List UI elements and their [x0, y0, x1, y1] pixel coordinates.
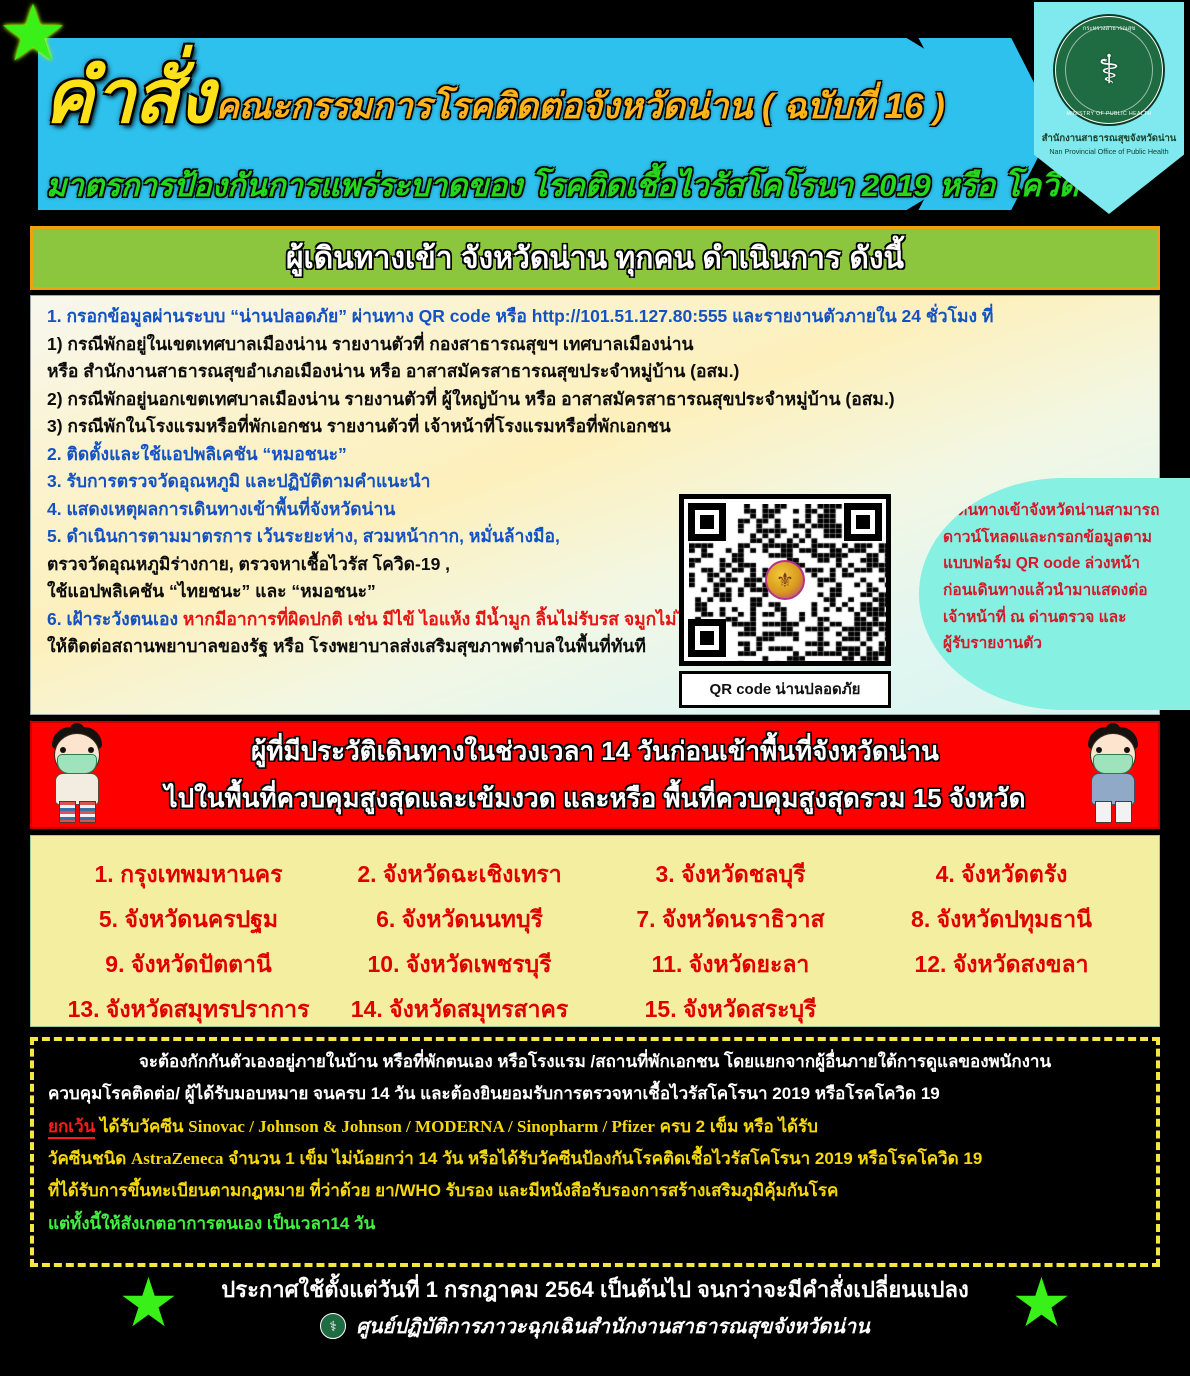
- province-item: 11. จังหวัดยะลา: [595, 947, 866, 983]
- mascot-left-icon: [40, 723, 114, 823]
- page-header: ★ คำสั่ง คณะกรรมการโรคติดต่อจังหวัดน่าน …: [0, 0, 1190, 222]
- instruction-line: 2. ติดตั้งและใช้แอปพลิเคชัน “หมอชนะ”: [47, 446, 1143, 464]
- travel-history-line1: ผู้ที่มีประวัติเดินทางในช่วงเวลา 14 วันก…: [251, 731, 939, 772]
- astrazeneca-suffix: จำนวน 1 เข็ม ไม่น้อยกว่า 14 วัน หรือได้ร…: [224, 1149, 983, 1168]
- star-decoration-footer-left: ★: [118, 1269, 179, 1337]
- province-item: 14. จังหวัดสมุทรสาคร: [324, 992, 595, 1028]
- qr-code-caption: QR code น่านปลอดภัย: [679, 671, 891, 708]
- quarantine-line-2: ควบคุมโรคติดต่อ/ ผู้ได้รับมอบหมาย จนครบ …: [48, 1085, 1142, 1103]
- province-item: 8. จังหวัดปทุมธานี: [866, 902, 1137, 938]
- instruction-line: 3. รับการตรวจวัดอุณหภูมิ และปฏิบัติตามคำ…: [47, 473, 1143, 491]
- quarantine-line-1: จะต้องกักกันตัวเองอยู่ภายในบ้าน หรือที่พ…: [48, 1053, 1142, 1071]
- note-line: ผู้เดินทางเข้าจังหวัดน่านสามารถ: [943, 498, 1190, 525]
- province-row: 9. จังหวัดปัตตานี 10. จังหวัดเพชรบุรี 11…: [53, 942, 1137, 987]
- vaccine-astrazeneca-line: วัคซีนชนิด AstraZeneca จำนวน 1 เข็ม ไม่น…: [48, 1150, 1142, 1168]
- province-row: 5. จังหวัดนครปฐม 6. จังหวัดนนทบุรี 7. จั…: [53, 897, 1137, 942]
- note-line: ผู้รับรายงานตัว: [943, 631, 1190, 658]
- issuing-office-row: ⚕ ศูนย์ปฏิบัติการภาวะฉุกเฉินสำนักงานสาธา…: [320, 1310, 870, 1342]
- province-list: 1. กรุงเทพมหานคร 2. จังหวัดฉะเชิงเทรา 3.…: [30, 835, 1160, 1027]
- province-item: 13. จังหวัดสมุทรปราการ: [53, 992, 324, 1028]
- seal-ring-thai-text: กระทรวงสาธารณสุข: [1055, 23, 1163, 33]
- note-line: แบบฟอร์ม QR oode ล่วงหน้า: [943, 551, 1190, 578]
- qr-instruction-note: ผู้เดินทางเข้าจังหวัดน่านสามารถ ดาวน์โหล…: [919, 478, 1190, 710]
- mascot-eye-right: [1124, 747, 1130, 753]
- qr-code-image[interactable]: ⚜: [679, 494, 891, 666]
- instruction-line: 1) กรณีพักอยู่ในเขตเทศบาลเมืองน่าน รายงา…: [47, 336, 1143, 354]
- exemption-text-b: ครบ 2 เข็ม หรือ ได้รับ: [655, 1117, 818, 1136]
- section-title-text: ผู้เดินทางเข้า จังหวัดน่าน ทุกคน ดำเนินก…: [286, 235, 904, 282]
- qr-finder-bottom-left: [688, 619, 726, 657]
- mascot-leg: [1095, 801, 1112, 823]
- travel-history-banner: ผู้ที่มีประวัติเดินทางในช่วงเวลา 14 วันก…: [30, 721, 1160, 829]
- note-line: ดาวน์โหลดและกรอกข้อมูลตาม: [943, 525, 1190, 552]
- province-row: 13. จังหวัดสมุทรปราการ 14. จังหวัดสมุทรส…: [53, 987, 1137, 1032]
- effective-date-notice: ประกาศใช้ตั้งแต่วันที่ 1 กรกฎาคม 2564 เป…: [221, 1272, 968, 1307]
- travel-history-line2: ไปในพื้นที่ควบคุมสูงสุดและเข้มงวด และหรื…: [165, 778, 1026, 819]
- province-item: 4. จังหวัดตรัง: [866, 857, 1137, 893]
- issuing-office-name: ศูนย์ปฏิบัติการภาวะฉุกเฉินสำนักงานสาธารณ…: [356, 1310, 870, 1342]
- province-item: 2. จังหวัดฉะเชิงเทรา: [324, 857, 595, 893]
- quarantine-requirements-box: จะต้องกักกันตัวเองอยู่ภายในบ้าน หรือที่พ…: [30, 1037, 1160, 1267]
- instruction-line: หรือ สำนักงานสาธารณสุขอำเภอเมืองน่าน หรื…: [47, 363, 1143, 381]
- mascot-legs: [1091, 801, 1135, 823]
- section-title-bar: ผู้เดินทางเข้า จังหวัดน่าน ทุกคน ดำเนินก…: [30, 226, 1160, 290]
- star-decoration-footer-right: ★: [1011, 1269, 1072, 1337]
- province-item: 15. จังหวัดสระบุรี: [595, 992, 866, 1028]
- qr-finder-top-left: [688, 503, 726, 541]
- mascot-eye-left: [60, 747, 66, 753]
- province-item: 7. จังหวัดนราธิวาส: [595, 902, 866, 938]
- mascot-leg: [79, 801, 96, 823]
- mascot-right-icon: [1076, 723, 1150, 823]
- vaccine-brand-list: Sinovac / Johnson & Johnson / MODERNA / …: [188, 1117, 655, 1136]
- mascot-leg: [1115, 801, 1132, 823]
- instruction-line: 2) กรณีพักอยู่นอกเขตเทศบาลเมืองน่าน รายง…: [47, 391, 1143, 409]
- mascot-legs: [55, 801, 99, 823]
- province-item: 6. จังหวัดนนทบุรี: [324, 902, 595, 938]
- qr-center-emblem-icon: ⚜: [765, 560, 805, 600]
- province-item: 5. จังหวัดนครปฐม: [53, 902, 324, 938]
- quarantine-line-5: ที่ได้รับการขึ้นทะเบียนตามกฎหมาย ที่ว่าด…: [48, 1182, 1142, 1200]
- instruction-line: 3) กรณีพักในโรงแรมหรือที่พักเอกชน รายงาน…: [47, 418, 1143, 436]
- mascot-eye-left: [1096, 747, 1102, 753]
- province-item: 3. จังหวัดชลบุรี: [595, 857, 866, 893]
- vaccine-exemption-line: ยกเว้น ได้รับวัคซีน Sinovac / Johnson & …: [48, 1118, 1142, 1136]
- province-item: 1. กรุงเทพมหานคร: [53, 857, 324, 893]
- mascot-leg: [59, 801, 76, 823]
- note-line: เจ้าหน้าที่ ณ ด่านตรวจ และ: [943, 605, 1190, 632]
- province-item: 9. จังหวัดปัตตานี: [53, 947, 324, 983]
- page-footer: ★ ประกาศใช้ตั้งแต่วันที่ 1 กรกฎาคม 2564 …: [0, 1267, 1190, 1347]
- exemption-text-a: ได้รับวัคซีน: [95, 1117, 188, 1136]
- instruction-item6-prefix: 6. เฝ้าระวังตนเอง: [47, 609, 183, 629]
- astrazeneca-prefix: วัคซีนชนิด: [48, 1149, 131, 1168]
- astrazeneca-brand: AstraZeneca: [131, 1149, 224, 1168]
- province-item: 12. จังหวัดสงขลา: [866, 947, 1137, 983]
- ministry-seal-icon: กระทรวงสาธารณสุข ⚕ MINISTRY OF PUBLIC HE…: [1053, 14, 1165, 126]
- seal-ring-english-text: MINISTRY OF PUBLIC HEALTH: [1055, 111, 1163, 117]
- quarantine-line-6: แต่ทั้งนี้ให้สังเกตอาการตนเอง เป็นเวลา14…: [48, 1215, 1142, 1233]
- instruction-line: 1. กรอกข้อมูลผ่านระบบ “น่านปลอดภัย” ผ่าน…: [47, 308, 1143, 326]
- face-mask-icon: [57, 754, 97, 774]
- footer-ministry-icon: ⚕: [320, 1313, 346, 1339]
- page-title: คำสั่ง: [44, 62, 213, 132]
- qr-code-block[interactable]: ⚜ QR code น่านปลอดภัย: [679, 494, 891, 708]
- instructions-panel: 1. กรอกข้อมูลผ่านระบบ “น่านปลอดภัย” ผ่าน…: [30, 295, 1160, 715]
- qr-finder-top-right: [844, 503, 882, 541]
- header-committee-title: คณะกรรมการโรคติดต่อจังหวัดน่าน ( ฉบับที่…: [215, 88, 944, 133]
- header-subtitle: มาตรการป้องกันการแพร่ระบาดของ โรคติดเชื้…: [46, 160, 1123, 210]
- mascot-eye-right: [88, 747, 94, 753]
- province-row: 1. กรุงเทพมหานคร 2. จังหวัดฉะเชิงเทรา 3.…: [53, 852, 1137, 897]
- note-line: ก่อนเดินทางแล้วนำมาแสดงต่อ: [943, 578, 1190, 605]
- face-mask-icon: [1093, 754, 1133, 774]
- exemption-label: ยกเว้น: [48, 1117, 95, 1139]
- caduceus-icon: ⚕: [1098, 50, 1120, 90]
- logo-caption-thai: สำนักงานสาธารณสุขจังหวัดน่าน: [1042, 131, 1177, 146]
- province-item: 10. จังหวัดเพชรบุรี: [324, 947, 595, 983]
- header-title-row: คำสั่ง คณะกรรมการโรคติดต่อจังหวัดน่าน ( …: [44, 62, 945, 132]
- logo-caption-english: Nan Provincial Office of Public Health: [1049, 147, 1168, 156]
